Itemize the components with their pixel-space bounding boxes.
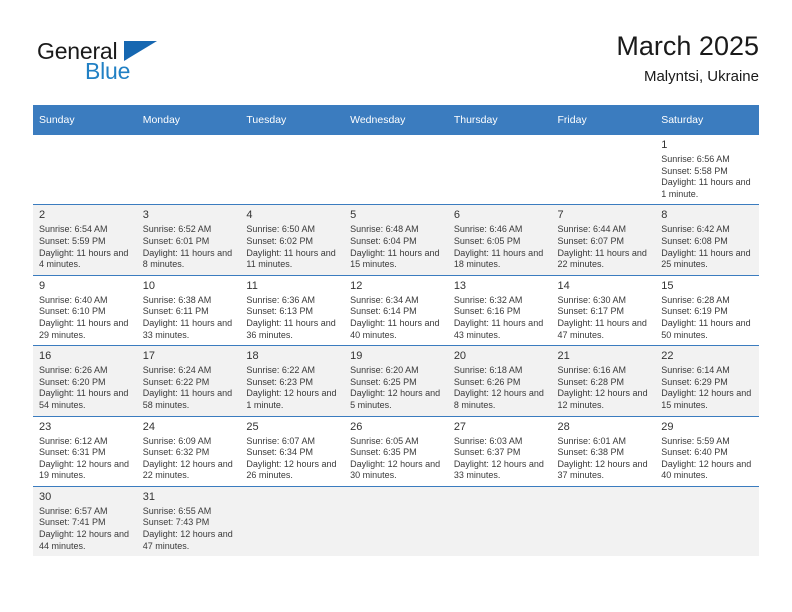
day-cell-content: 13Sunrise: 6:32 AMSunset: 6:16 PMDayligh…: [448, 276, 552, 345]
calendar-week-row: 30Sunrise: 6:57 AMSunset: 7:41 PMDayligh…: [33, 486, 759, 556]
day-cell-content: 19Sunrise: 6:20 AMSunset: 6:25 PMDayligh…: [344, 346, 448, 415]
day-number: 20: [454, 349, 547, 363]
daylight-text: Daylight: 11 hours and 18 minutes.: [454, 248, 547, 271]
sunrise-sunset-calendar: Sunday Monday Tuesday Wednesday Thursday…: [33, 105, 759, 556]
day-cell-content: 17Sunrise: 6:24 AMSunset: 6:22 PMDayligh…: [137, 346, 241, 415]
day-cell-content: 15Sunrise: 6:28 AMSunset: 6:19 PMDayligh…: [655, 276, 759, 345]
daylight-text: Daylight: 12 hours and 30 minutes.: [350, 459, 443, 482]
daylight-text: Daylight: 11 hours and 43 minutes.: [454, 318, 547, 341]
sunrise-text: Sunrise: 6:46 AM: [454, 224, 547, 236]
calendar-day-cell[interactable]: 1Sunrise: 6:56 AMSunset: 5:58 PMDaylight…: [655, 135, 759, 205]
calendar-empty-cell: [344, 135, 448, 205]
calendar-day-cell[interactable]: 23Sunrise: 6:12 AMSunset: 6:31 PMDayligh…: [33, 416, 137, 486]
sunset-text: Sunset: 6:01 PM: [143, 236, 236, 248]
daylight-text: Daylight: 12 hours and 44 minutes.: [39, 529, 132, 552]
logo-word-blue: Blue: [85, 58, 130, 85]
day-cell-content: 28Sunrise: 6:01 AMSunset: 6:38 PMDayligh…: [552, 417, 656, 486]
daylight-text: Daylight: 11 hours and 8 minutes.: [143, 248, 236, 271]
daylight-text: Daylight: 12 hours and 22 minutes.: [143, 459, 236, 482]
calendar-day-cell[interactable]: 6Sunrise: 6:46 AMSunset: 6:05 PMDaylight…: [448, 205, 552, 275]
daylight-text: Daylight: 12 hours and 8 minutes.: [454, 388, 547, 411]
calendar-day-cell[interactable]: 24Sunrise: 6:09 AMSunset: 6:32 PMDayligh…: [137, 416, 241, 486]
sunrise-text: Sunrise: 6:44 AM: [558, 224, 651, 236]
sunrise-text: Sunrise: 6:24 AM: [143, 365, 236, 377]
day-number: 19: [350, 349, 443, 363]
day-cell-content: 25Sunrise: 6:07 AMSunset: 6:34 PMDayligh…: [240, 417, 344, 486]
calendar-day-cell[interactable]: 17Sunrise: 6:24 AMSunset: 6:22 PMDayligh…: [137, 346, 241, 416]
day-cell-content: 31Sunrise: 6:55 AMSunset: 7:43 PMDayligh…: [137, 487, 241, 556]
day-number: 23: [39, 420, 132, 434]
weekday-header-row: Sunday Monday Tuesday Wednesday Thursday…: [33, 105, 759, 135]
day-number: 11: [246, 279, 339, 293]
day-cell-content: 3Sunrise: 6:52 AMSunset: 6:01 PMDaylight…: [137, 205, 241, 274]
sunset-text: Sunset: 6:38 PM: [558, 447, 651, 459]
day-number: 10: [143, 279, 236, 293]
calendar-day-cell[interactable]: 31Sunrise: 6:55 AMSunset: 7:43 PMDayligh…: [137, 486, 241, 556]
weekday-header-saturday: Saturday: [655, 105, 759, 135]
day-number: 3: [143, 208, 236, 222]
day-number: 1: [661, 138, 754, 152]
calendar-day-cell[interactable]: 21Sunrise: 6:16 AMSunset: 6:28 PMDayligh…: [552, 346, 656, 416]
calendar-empty-cell: [240, 135, 344, 205]
day-cell-content: 4Sunrise: 6:50 AMSunset: 6:02 PMDaylight…: [240, 205, 344, 274]
day-cell-content: 30Sunrise: 6:57 AMSunset: 7:41 PMDayligh…: [33, 487, 137, 556]
sunset-text: Sunset: 6:25 PM: [350, 377, 443, 389]
day-number: 5: [350, 208, 443, 222]
sunrise-text: Sunrise: 6:09 AM: [143, 436, 236, 448]
calendar-day-cell[interactable]: 28Sunrise: 6:01 AMSunset: 6:38 PMDayligh…: [552, 416, 656, 486]
daylight-text: Daylight: 11 hours and 22 minutes.: [558, 248, 651, 271]
page-header: General Blue March 2025 Malyntsi, Ukrain…: [33, 30, 759, 94]
day-cell-content: 12Sunrise: 6:34 AMSunset: 6:14 PMDayligh…: [344, 276, 448, 345]
weekday-header-friday: Friday: [552, 105, 656, 135]
day-number: 15: [661, 279, 754, 293]
calendar-day-cell[interactable]: 9Sunrise: 6:40 AMSunset: 6:10 PMDaylight…: [33, 275, 137, 345]
calendar-day-cell[interactable]: 30Sunrise: 6:57 AMSunset: 7:41 PMDayligh…: [33, 486, 137, 556]
day-number: 22: [661, 349, 754, 363]
sunrise-text: Sunrise: 6:38 AM: [143, 295, 236, 307]
sunset-text: Sunset: 6:08 PM: [661, 236, 754, 248]
day-number: 2: [39, 208, 132, 222]
sunrise-text: Sunrise: 6:36 AM: [246, 295, 339, 307]
day-number: 14: [558, 279, 651, 293]
sunrise-text: Sunrise: 5:59 AM: [661, 436, 754, 448]
daylight-text: Daylight: 12 hours and 15 minutes.: [661, 388, 754, 411]
daylight-text: Daylight: 11 hours and 54 minutes.: [39, 388, 132, 411]
weekday-header-sunday: Sunday: [33, 105, 137, 135]
calendar-day-cell[interactable]: 26Sunrise: 6:05 AMSunset: 6:35 PMDayligh…: [344, 416, 448, 486]
sunset-text: Sunset: 6:02 PM: [246, 236, 339, 248]
daylight-text: Daylight: 11 hours and 4 minutes.: [39, 248, 132, 271]
calendar-day-cell[interactable]: 5Sunrise: 6:48 AMSunset: 6:04 PMDaylight…: [344, 205, 448, 275]
daylight-text: Daylight: 11 hours and 29 minutes.: [39, 318, 132, 341]
day-cell-content: 6Sunrise: 6:46 AMSunset: 6:05 PMDaylight…: [448, 205, 552, 274]
daylight-text: Daylight: 12 hours and 47 minutes.: [143, 529, 236, 552]
day-cell-content: 23Sunrise: 6:12 AMSunset: 6:31 PMDayligh…: [33, 417, 137, 486]
daylight-text: Daylight: 12 hours and 26 minutes.: [246, 459, 339, 482]
day-number: 31: [143, 490, 236, 504]
weekday-header-thursday: Thursday: [448, 105, 552, 135]
sunset-text: Sunset: 6:19 PM: [661, 306, 754, 318]
day-number: 27: [454, 420, 547, 434]
day-cell-content: 5Sunrise: 6:48 AMSunset: 6:04 PMDaylight…: [344, 205, 448, 274]
sunrise-text: Sunrise: 6:56 AM: [661, 154, 754, 166]
sunset-text: Sunset: 7:41 PM: [39, 517, 132, 529]
day-cell-content: 2Sunrise: 6:54 AMSunset: 5:59 PMDaylight…: [33, 205, 137, 274]
day-number: 24: [143, 420, 236, 434]
sunset-text: Sunset: 6:40 PM: [661, 447, 754, 459]
calendar-empty-cell: [448, 135, 552, 205]
sunrise-text: Sunrise: 6:55 AM: [143, 506, 236, 518]
sunset-text: Sunset: 6:26 PM: [454, 377, 547, 389]
calendar-empty-cell: [552, 135, 656, 205]
daylight-text: Daylight: 12 hours and 37 minutes.: [558, 459, 651, 482]
calendar-empty-cell: [33, 135, 137, 205]
sunrise-text: Sunrise: 6:01 AM: [558, 436, 651, 448]
sunrise-text: Sunrise: 6:05 AM: [350, 436, 443, 448]
daylight-text: Daylight: 12 hours and 33 minutes.: [454, 459, 547, 482]
calendar-day-cell[interactable]: 20Sunrise: 6:18 AMSunset: 6:26 PMDayligh…: [448, 346, 552, 416]
sunrise-text: Sunrise: 6:22 AM: [246, 365, 339, 377]
calendar-week-row: 2Sunrise: 6:54 AMSunset: 5:59 PMDaylight…: [33, 205, 759, 275]
day-cell-content: 14Sunrise: 6:30 AMSunset: 6:17 PMDayligh…: [552, 276, 656, 345]
sunrise-text: Sunrise: 6:32 AM: [454, 295, 547, 307]
sunrise-text: Sunrise: 6:16 AM: [558, 365, 651, 377]
day-cell-content: 21Sunrise: 6:16 AMSunset: 6:28 PMDayligh…: [552, 346, 656, 415]
day-cell-content: 26Sunrise: 6:05 AMSunset: 6:35 PMDayligh…: [344, 417, 448, 486]
sunset-text: Sunset: 5:58 PM: [661, 166, 754, 178]
daylight-text: Daylight: 11 hours and 15 minutes.: [350, 248, 443, 271]
calendar-day-cell[interactable]: 15Sunrise: 6:28 AMSunset: 6:19 PMDayligh…: [655, 275, 759, 345]
sunrise-text: Sunrise: 6:14 AM: [661, 365, 754, 377]
calendar-empty-cell: [137, 135, 241, 205]
sunset-text: Sunset: 5:59 PM: [39, 236, 132, 248]
calendar-day-cell[interactable]: 11Sunrise: 6:36 AMSunset: 6:13 PMDayligh…: [240, 275, 344, 345]
calendar-day-cell[interactable]: 18Sunrise: 6:22 AMSunset: 6:23 PMDayligh…: [240, 346, 344, 416]
day-number: 29: [661, 420, 754, 434]
day-cell-content: 18Sunrise: 6:22 AMSunset: 6:23 PMDayligh…: [240, 346, 344, 415]
calendar-page: General Blue March 2025 Malyntsi, Ukrain…: [0, 0, 792, 612]
calendar-day-cell[interactable]: 16Sunrise: 6:26 AMSunset: 6:20 PMDayligh…: [33, 346, 137, 416]
sunset-text: Sunset: 6:16 PM: [454, 306, 547, 318]
calendar-day-cell[interactable]: 8Sunrise: 6:42 AMSunset: 6:08 PMDaylight…: [655, 205, 759, 275]
title-block: March 2025 Malyntsi, Ukraine: [616, 30, 759, 88]
day-number: 18: [246, 349, 339, 363]
calendar-body: 1Sunrise: 6:56 AMSunset: 5:58 PMDaylight…: [33, 135, 759, 557]
daylight-text: Daylight: 11 hours and 1 minute.: [661, 177, 754, 200]
daylight-text: Daylight: 12 hours and 12 minutes.: [558, 388, 651, 411]
calendar-week-row: 9Sunrise: 6:40 AMSunset: 6:10 PMDaylight…: [33, 275, 759, 345]
day-number: 26: [350, 420, 443, 434]
page-subtitle: Malyntsi, Ukraine: [616, 66, 759, 88]
calendar-empty-cell: [448, 486, 552, 556]
sunset-text: Sunset: 6:28 PM: [558, 377, 651, 389]
daylight-text: Daylight: 12 hours and 5 minutes.: [350, 388, 443, 411]
sunset-text: Sunset: 6:34 PM: [246, 447, 339, 459]
calendar-week-row: 16Sunrise: 6:26 AMSunset: 6:20 PMDayligh…: [33, 346, 759, 416]
sunset-text: Sunset: 6:10 PM: [39, 306, 132, 318]
daylight-text: Daylight: 11 hours and 47 minutes.: [558, 318, 651, 341]
day-cell-content: 10Sunrise: 6:38 AMSunset: 6:11 PMDayligh…: [137, 276, 241, 345]
weekday-header-tuesday: Tuesday: [240, 105, 344, 135]
day-cell-content: 16Sunrise: 6:26 AMSunset: 6:20 PMDayligh…: [33, 346, 137, 415]
sunrise-text: Sunrise: 6:20 AM: [350, 365, 443, 377]
sunrise-text: Sunrise: 6:50 AM: [246, 224, 339, 236]
calendar-day-cell[interactable]: 14Sunrise: 6:30 AMSunset: 6:17 PMDayligh…: [552, 275, 656, 345]
calendar-week-row: 23Sunrise: 6:12 AMSunset: 6:31 PMDayligh…: [33, 416, 759, 486]
day-cell-content: 24Sunrise: 6:09 AMSunset: 6:32 PMDayligh…: [137, 417, 241, 486]
calendar-week-row: 1Sunrise: 6:56 AMSunset: 5:58 PMDaylight…: [33, 135, 759, 205]
daylight-text: Daylight: 11 hours and 33 minutes.: [143, 318, 236, 341]
day-number: 9: [39, 279, 132, 293]
calendar-day-cell[interactable]: 19Sunrise: 6:20 AMSunset: 6:25 PMDayligh…: [344, 346, 448, 416]
sunset-text: Sunset: 6:11 PM: [143, 306, 236, 318]
daylight-text: Daylight: 11 hours and 40 minutes.: [350, 318, 443, 341]
day-number: 12: [350, 279, 443, 293]
sunset-text: Sunset: 6:35 PM: [350, 447, 443, 459]
day-cell-content: 1Sunrise: 6:56 AMSunset: 5:58 PMDaylight…: [655, 135, 759, 204]
sunset-text: Sunset: 7:43 PM: [143, 517, 236, 529]
day-cell-content: 11Sunrise: 6:36 AMSunset: 6:13 PMDayligh…: [240, 276, 344, 345]
sunrise-text: Sunrise: 6:28 AM: [661, 295, 754, 307]
sunrise-text: Sunrise: 6:40 AM: [39, 295, 132, 307]
day-number: 16: [39, 349, 132, 363]
weekday-header-wednesday: Wednesday: [344, 105, 448, 135]
daylight-text: Daylight: 11 hours and 25 minutes.: [661, 248, 754, 271]
sunrise-text: Sunrise: 6:07 AM: [246, 436, 339, 448]
sunrise-text: Sunrise: 6:34 AM: [350, 295, 443, 307]
sunset-text: Sunset: 6:07 PM: [558, 236, 651, 248]
sunrise-text: Sunrise: 6:03 AM: [454, 436, 547, 448]
sunset-text: Sunset: 6:23 PM: [246, 377, 339, 389]
sunrise-text: Sunrise: 6:52 AM: [143, 224, 236, 236]
day-number: 7: [558, 208, 651, 222]
calendar-day-cell[interactable]: 22Sunrise: 6:14 AMSunset: 6:29 PMDayligh…: [655, 346, 759, 416]
sunset-text: Sunset: 6:37 PM: [454, 447, 547, 459]
calendar-empty-cell: [344, 486, 448, 556]
calendar-day-cell[interactable]: 12Sunrise: 6:34 AMSunset: 6:14 PMDayligh…: [344, 275, 448, 345]
calendar-day-cell[interactable]: 29Sunrise: 5:59 AMSunset: 6:40 PMDayligh…: [655, 416, 759, 486]
sunrise-text: Sunrise: 6:42 AM: [661, 224, 754, 236]
sunset-text: Sunset: 6:31 PM: [39, 447, 132, 459]
calendar-empty-cell: [240, 486, 344, 556]
sunset-text: Sunset: 6:29 PM: [661, 377, 754, 389]
daylight-text: Daylight: 12 hours and 19 minutes.: [39, 459, 132, 482]
day-cell-content: 29Sunrise: 5:59 AMSunset: 6:40 PMDayligh…: [655, 417, 759, 486]
calendar-empty-cell: [655, 486, 759, 556]
day-number: 28: [558, 420, 651, 434]
daylight-text: Daylight: 12 hours and 40 minutes.: [661, 459, 754, 482]
daylight-text: Daylight: 11 hours and 36 minutes.: [246, 318, 339, 341]
day-cell-content: 22Sunrise: 6:14 AMSunset: 6:29 PMDayligh…: [655, 346, 759, 415]
daylight-text: Daylight: 11 hours and 58 minutes.: [143, 388, 236, 411]
daylight-text: Daylight: 11 hours and 50 minutes.: [661, 318, 754, 341]
general-blue-logo: General Blue: [33, 38, 203, 90]
sunrise-text: Sunrise: 6:54 AM: [39, 224, 132, 236]
daylight-text: Daylight: 12 hours and 1 minute.: [246, 388, 339, 411]
day-number: 8: [661, 208, 754, 222]
sunset-text: Sunset: 6:22 PM: [143, 377, 236, 389]
sunset-text: Sunset: 6:04 PM: [350, 236, 443, 248]
day-number: 6: [454, 208, 547, 222]
calendar-day-cell[interactable]: 10Sunrise: 6:38 AMSunset: 6:11 PMDayligh…: [137, 275, 241, 345]
calendar-day-cell[interactable]: 7Sunrise: 6:44 AMSunset: 6:07 PMDaylight…: [552, 205, 656, 275]
sunrise-text: Sunrise: 6:57 AM: [39, 506, 132, 518]
day-number: 4: [246, 208, 339, 222]
sunrise-text: Sunrise: 6:26 AM: [39, 365, 132, 377]
day-cell-content: 9Sunrise: 6:40 AMSunset: 6:10 PMDaylight…: [33, 276, 137, 345]
day-cell-content: 7Sunrise: 6:44 AMSunset: 6:07 PMDaylight…: [552, 205, 656, 274]
sunset-text: Sunset: 6:17 PM: [558, 306, 651, 318]
calendar-empty-cell: [552, 486, 656, 556]
sunset-text: Sunset: 6:05 PM: [454, 236, 547, 248]
calendar-day-cell[interactable]: 13Sunrise: 6:32 AMSunset: 6:16 PMDayligh…: [448, 275, 552, 345]
sunset-text: Sunset: 6:32 PM: [143, 447, 236, 459]
weekday-header-monday: Monday: [137, 105, 241, 135]
day-cell-content: 27Sunrise: 6:03 AMSunset: 6:37 PMDayligh…: [448, 417, 552, 486]
sunset-text: Sunset: 6:13 PM: [246, 306, 339, 318]
sunrise-text: Sunrise: 6:18 AM: [454, 365, 547, 377]
calendar-day-cell[interactable]: 27Sunrise: 6:03 AMSunset: 6:37 PMDayligh…: [448, 416, 552, 486]
daylight-text: Daylight: 11 hours and 11 minutes.: [246, 248, 339, 271]
sunset-text: Sunset: 6:14 PM: [350, 306, 443, 318]
sunset-text: Sunset: 6:20 PM: [39, 377, 132, 389]
day-cell-content: 20Sunrise: 6:18 AMSunset: 6:26 PMDayligh…: [448, 346, 552, 415]
page-title: March 2025: [616, 30, 759, 62]
day-number: 30: [39, 490, 132, 504]
day-number: 13: [454, 279, 547, 293]
calendar-day-cell[interactable]: 2Sunrise: 6:54 AMSunset: 5:59 PMDaylight…: [33, 205, 137, 275]
day-number: 25: [246, 420, 339, 434]
calendar-day-cell[interactable]: 25Sunrise: 6:07 AMSunset: 6:34 PMDayligh…: [240, 416, 344, 486]
sunrise-text: Sunrise: 6:30 AM: [558, 295, 651, 307]
calendar-day-cell[interactable]: 4Sunrise: 6:50 AMSunset: 6:02 PMDaylight…: [240, 205, 344, 275]
day-number: 21: [558, 349, 651, 363]
sunrise-text: Sunrise: 6:12 AM: [39, 436, 132, 448]
day-cell-content: 8Sunrise: 6:42 AMSunset: 6:08 PMDaylight…: [655, 205, 759, 274]
calendar-day-cell[interactable]: 3Sunrise: 6:52 AMSunset: 6:01 PMDaylight…: [137, 205, 241, 275]
sunrise-text: Sunrise: 6:48 AM: [350, 224, 443, 236]
day-number: 17: [143, 349, 236, 363]
